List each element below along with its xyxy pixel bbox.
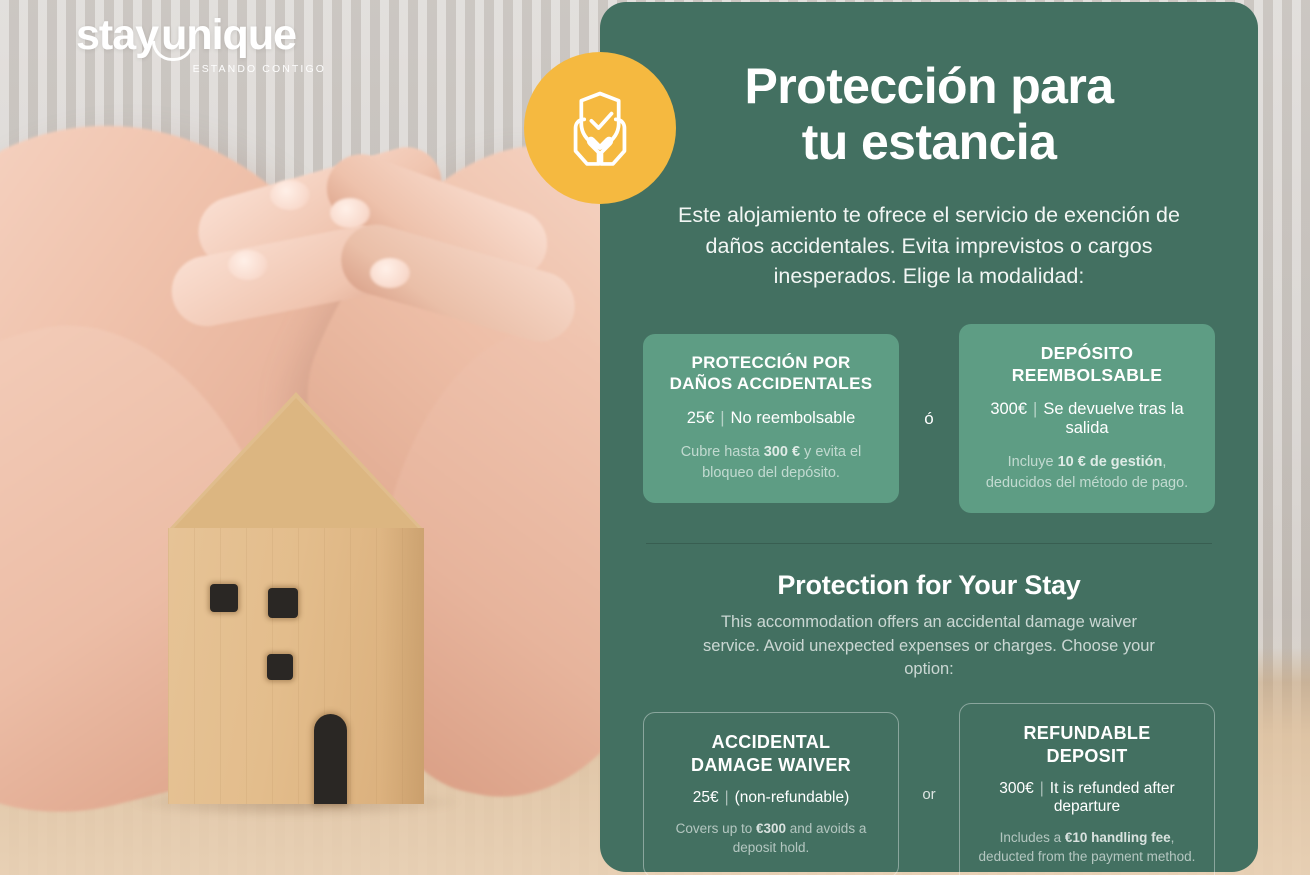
options-conjunction-es: ó xyxy=(899,409,959,429)
note-highlight: 300 € xyxy=(764,444,800,460)
note-prefix: Includes a xyxy=(1000,830,1065,845)
option-title-line-1: DEPÓSITO xyxy=(975,342,1199,364)
option-price: 300€ xyxy=(999,780,1033,797)
option-terms: It is refunded after departure xyxy=(1050,780,1175,815)
wooden-house-figurine xyxy=(168,392,424,804)
option-note: Cubre hasta 300 € y evita el bloqueo del… xyxy=(659,442,883,483)
fingernail xyxy=(370,258,410,288)
option-price-line: 25€|(non-refundable) xyxy=(660,789,882,807)
option-terms: (non-refundable) xyxy=(735,789,850,806)
house-window xyxy=(210,584,238,612)
option-card-accidental-damage-es[interactable]: PROTECCIÓN POR DAÑOS ACCIDENTALES 25€|No… xyxy=(643,334,899,504)
note-highlight: 10 € de gestión xyxy=(1058,454,1163,470)
option-price: 25€ xyxy=(693,789,719,806)
fingernail xyxy=(270,180,310,210)
option-note: Covers up to €300 and avoids a deposit h… xyxy=(660,819,882,857)
section-divider xyxy=(646,543,1212,544)
brand-name-stay: stay xyxy=(76,14,158,57)
house-window xyxy=(267,654,293,680)
brand-smile-icon: unique xyxy=(161,14,296,57)
option-title-line-2: REEMBOLSABLE xyxy=(975,364,1199,386)
note-prefix: Cubre hasta xyxy=(681,444,764,460)
shield-check-in-hands-icon xyxy=(554,82,646,174)
option-card-accidental-damage-en[interactable]: ACCIDENTAL DAMAGE WAIVER 25€|(non-refund… xyxy=(643,712,899,875)
option-price: 300€ xyxy=(990,400,1027,418)
title-line-2: tu estancia xyxy=(636,114,1222,170)
option-title-line-1: PROTECCIÓN POR xyxy=(659,352,883,374)
option-title: REFUNDABLE DEPOSIT xyxy=(976,722,1198,768)
option-title-line-2: DAMAGE WAIVER xyxy=(660,754,882,777)
price-separator: | xyxy=(1034,780,1050,797)
option-title-line-2: DAÑOS ACCIDENTALES xyxy=(659,373,883,395)
intro-text-es: Este alojamiento te ofrece el servicio d… xyxy=(649,200,1209,292)
option-title-line-1: REFUNDABLE xyxy=(976,722,1198,745)
title-line-1: Protección para xyxy=(636,58,1222,114)
options-row-es: PROTECCIÓN POR DAÑOS ACCIDENTALES 25€|No… xyxy=(636,324,1222,514)
option-terms: No reembolsable xyxy=(731,409,856,427)
options-conjunction-en: or xyxy=(899,786,959,803)
option-title: PROTECCIÓN POR DAÑOS ACCIDENTALES xyxy=(659,352,883,396)
promo-banner: stay unique ESTANDO CONTIGO Protección p… xyxy=(0,0,1310,875)
brand-wordmark: stay unique xyxy=(76,14,326,57)
brand-name-unique: unique xyxy=(161,11,296,59)
option-price-line: 300€|It is refunded after departure xyxy=(976,780,1198,816)
price-separator: | xyxy=(1027,400,1043,418)
brand-logo: stay unique ESTANDO CONTIGO xyxy=(76,14,326,75)
option-terms: Se devuelve tras la salida xyxy=(1043,400,1183,437)
note-highlight: €300 xyxy=(756,821,786,836)
option-title: DEPÓSITO REEMBOLSABLE xyxy=(975,342,1199,387)
brand-tagline: ESTANDO CONTIGO xyxy=(76,63,326,75)
option-card-refundable-deposit-en[interactable]: REFUNDABLE DEPOSIT 300€|It is refunded a… xyxy=(959,703,1215,875)
house-door xyxy=(314,714,347,804)
option-card-refundable-deposit-es[interactable]: DEPÓSITO REEMBOLSABLE 300€|Se devuelve t… xyxy=(959,324,1215,514)
house-roof-face xyxy=(174,398,418,528)
fingernail xyxy=(228,250,268,280)
house-side-shading xyxy=(380,528,424,804)
fingernail xyxy=(330,198,370,228)
protection-panel: Protección para tu estancia Este alojami… xyxy=(600,2,1258,872)
option-note: Incluye 10 € de gestión, deducidos del m… xyxy=(975,452,1199,493)
option-title: ACCIDENTAL DAMAGE WAIVER xyxy=(660,731,882,777)
options-row-en: ACCIDENTAL DAMAGE WAIVER 25€|(non-refund… xyxy=(636,703,1222,875)
protection-badge xyxy=(524,52,676,204)
note-prefix: Covers up to xyxy=(676,821,756,836)
option-title-line-1: ACCIDENTAL xyxy=(660,731,882,754)
price-separator: | xyxy=(714,409,730,427)
price-separator: | xyxy=(719,789,735,806)
page-title-en: Protection for Your Stay xyxy=(636,570,1222,601)
option-price-line: 300€|Se devuelve tras la salida xyxy=(975,400,1199,438)
option-title-line-2: DEPOSIT xyxy=(976,745,1198,768)
page-title-es: Protección para tu estancia xyxy=(636,58,1222,170)
option-price: 25€ xyxy=(687,409,715,427)
note-highlight: €10 handling fee xyxy=(1065,830,1171,845)
option-price-line: 25€|No reembolsable xyxy=(659,409,883,428)
house-window xyxy=(268,588,298,618)
note-prefix: Incluye xyxy=(1008,454,1058,470)
option-note: Includes a €10 handling fee, deducted fr… xyxy=(976,828,1198,866)
intro-text-en: This accommodation offers an accidental … xyxy=(694,611,1164,680)
